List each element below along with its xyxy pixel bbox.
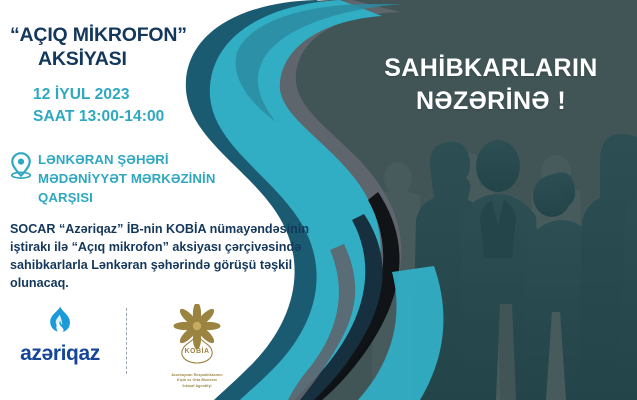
headline-line-1: “AÇIQ MİKROFON” — [10, 24, 310, 48]
headline-line-2: AKSİYASI — [10, 48, 310, 72]
kobia-caption-line-3: İnkişaf Agentliyi — [171, 384, 222, 389]
event-venue: LƏNKƏRAN ŞƏHƏRİ MƏDƏNİYYƏT MƏRKƏZİNİN QA… — [10, 150, 310, 207]
event-time: SAAT 13:00-14:00 — [33, 106, 164, 128]
logo-divider — [126, 308, 127, 374]
attention-headline-line-1: SAHİBKARLARIN — [355, 52, 627, 85]
kobia-caption-line-2: Kiçik və Orta Biznesin — [171, 378, 222, 383]
event-date: 12 İYUL 2023 — [33, 84, 164, 106]
location-pin-icon — [10, 152, 32, 184]
venue-address: LƏNKƏRAN ŞƏHƏRİ MƏDƏNİYYƏT MƏRKƏZİNİN QA… — [38, 150, 215, 207]
page-title: “AÇIQ MİKROFON” AKSİYASI — [10, 24, 310, 72]
logo-row: azəriqaz — [8, 302, 308, 394]
venue-line-3: QARŞISI — [38, 188, 215, 207]
kobia-caption: Azərbaycan Respublikasının Kiçik və Orta… — [171, 373, 222, 389]
azeriqaz-wordmark: azəriqaz — [20, 342, 100, 366]
attention-headline-line-2: NƏZƏRİNƏ ! — [355, 85, 627, 118]
kobia-wordmark: KOBİA — [184, 347, 209, 355]
venue-line-2: MƏDƏNİYYƏT MƏRKƏZİNİN — [38, 169, 215, 188]
poster-canvas: “AÇIQ MİKROFON” AKSİYASI 12 İYUL 2023 SA… — [0, 0, 637, 400]
kobia-logo: KOBİA Azərbaycan Respublikasının Kiçik v… — [141, 302, 253, 389]
flower-icon: KOBİA — [166, 304, 228, 371]
venue-line-1: LƏNKƏRAN ŞƏHƏRİ — [38, 150, 215, 169]
azeriqaz-logo: azəriqaz — [8, 302, 112, 366]
attention-headline: SAHİBKARLARIN NƏZƏRİNƏ ! — [355, 52, 627, 118]
event-datetime: 12 İYUL 2023 SAAT 13:00-14:00 — [33, 84, 164, 129]
event-description: SOCAR “Azəriqaz” İB-nin KOBİA nümayəndəs… — [10, 221, 315, 293]
gas-flame-icon — [47, 306, 73, 341]
